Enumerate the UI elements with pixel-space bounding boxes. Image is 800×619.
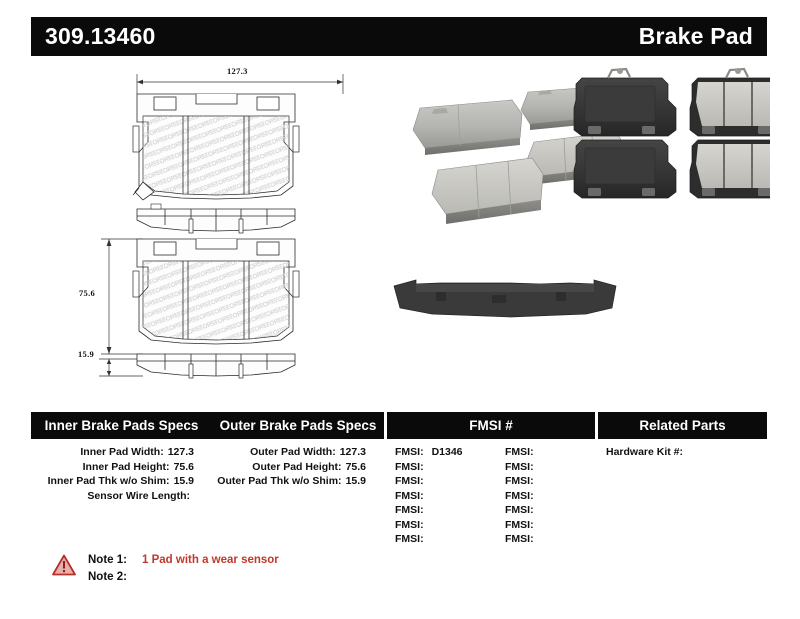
dimension-label-thickness: 15.9 — [78, 349, 94, 359]
photo-pad-edge — [394, 280, 616, 317]
spec-label: Sensor Wire Length: — [87, 489, 190, 504]
spec-label: Inner Pad Width: — [80, 445, 163, 460]
technical-drawing-area: STOP TECH — [31, 64, 371, 384]
fmsi-label: FMSI: — [505, 518, 534, 533]
fmsi-row: FMSI: — [505, 474, 595, 489]
note-label: Note 2: — [88, 569, 136, 586]
column-header-inner-specs: Inner Brake Pads Specs — [31, 412, 212, 439]
note-label: Note 1: — [88, 552, 136, 569]
fmsi-row: FMSI: — [395, 474, 491, 489]
fmsi-row: FMSI: — [395, 489, 491, 504]
spec-label: Outer Pad Thk w/o Shim: — [217, 474, 341, 489]
spec-table-body: Inner Pad Width: 127.3 Inner Pad Height:… — [31, 445, 767, 547]
fmsi-row: FMSI: D1346 — [395, 445, 491, 460]
dimension-width — [137, 74, 343, 94]
fmsi-label: FMSI: — [505, 503, 534, 518]
fmsi-label: FMSI: — [395, 489, 424, 504]
fmsi-row: FMSI: — [505, 445, 595, 460]
fmsi-row: FMSI: — [505, 518, 595, 533]
column-header-outer-specs: Outer Brake Pads Specs — [212, 412, 384, 439]
fmsi-row: FMSI: — [395, 532, 491, 547]
fmsi-row: FMSI: — [505, 489, 595, 504]
dimension-label-width: 127.3 — [227, 66, 248, 76]
fmsi-label: FMSI: — [505, 489, 534, 504]
fmsi-column: FMSI: D1346 FMSI: FMSI: FMSI: — [387, 445, 595, 547]
related-part-row: Hardware Kit #: — [598, 445, 767, 460]
fmsi-label: FMSI: — [395, 532, 424, 547]
note-row: Note 2: — [88, 569, 279, 586]
spec-value: 127.3 — [340, 445, 366, 460]
fmsi-value: D1346 — [432, 445, 463, 460]
fmsi-row: FMSI: — [395, 460, 491, 475]
pad-front-view-upper — [133, 94, 299, 199]
spec-label: Inner Pad Thk w/o Shim: — [48, 474, 170, 489]
dimension-thickness — [99, 359, 143, 376]
outer-specs-column: Outer Pad Width: 127.3 Outer Pad Height:… — [212, 445, 384, 547]
spec-value: 75.6 — [346, 460, 366, 475]
spec-row: Inner Pad Thk w/o Shim: 15.9 — [31, 474, 212, 489]
column-header-fmsi: FMSI # — [387, 412, 595, 439]
pad-edge-view-upper — [137, 204, 295, 233]
product-photo-area — [380, 64, 770, 384]
spec-label: Outer Pad Height: — [252, 460, 341, 475]
fmsi-label: FMSI: — [505, 532, 534, 547]
product-photos — [380, 64, 770, 384]
fmsi-subcolumn-1: FMSI: D1346 FMSI: FMSI: FMSI: — [387, 445, 491, 547]
spec-value: 75.6 — [174, 460, 194, 475]
brake-pad-drawings: STOP TECH — [31, 64, 371, 384]
related-parts-column: Hardware Kit #: — [598, 445, 767, 547]
fmsi-label: FMSI: — [505, 474, 534, 489]
fmsi-label: FMSI: — [505, 460, 534, 475]
spec-row: Sensor Wire Length: — [31, 489, 212, 504]
fmsi-row: FMSI: — [395, 503, 491, 518]
fmsi-label: FMSI: — [395, 518, 424, 533]
note-row: Note 1: 1 Pad with a wear sensor — [88, 552, 279, 569]
fmsi-row: FMSI: — [505, 532, 595, 547]
spec-table-header-row: Inner Brake Pads Specs Outer Brake Pads … — [31, 412, 767, 439]
fmsi-subcolumn-2: FMSI: FMSI: FMSI: FMSI: — [491, 445, 595, 547]
spec-label: Outer Pad Width: — [250, 445, 336, 460]
dimension-label-height: 75.6 — [79, 288, 95, 298]
spec-row: Outer Pad Height: 75.6 — [212, 460, 384, 475]
part-number: 309.13460 — [45, 23, 156, 50]
spec-label: Inner Pad Height: — [83, 460, 170, 475]
fmsi-label: FMSI: — [395, 460, 424, 475]
fmsi-label: FMSI: — [395, 474, 424, 489]
column-header-related-parts: Related Parts — [598, 412, 767, 439]
spec-value: 15.9 — [346, 474, 366, 489]
spec-value: 15.9 — [174, 474, 194, 489]
pad-front-view-lower — [133, 239, 299, 344]
note-value: 1 Pad with a wear sensor — [142, 552, 279, 569]
fmsi-row: FMSI: — [505, 503, 595, 518]
spec-row: Outer Pad Width: 127.3 — [212, 445, 384, 460]
fmsi-label: FMSI: — [505, 445, 534, 460]
brake-pad-spec-sheet: 309.13460 Brake Pad STOP TECH — [0, 0, 800, 619]
fmsi-label: FMSI: — [395, 503, 424, 518]
inner-specs-column: Inner Pad Width: 127.3 Inner Pad Height:… — [31, 445, 212, 547]
product-type: Brake Pad — [639, 23, 753, 50]
header-bar: 309.13460 Brake Pad — [31, 17, 767, 56]
spec-row: Inner Pad Height: 75.6 — [31, 460, 212, 475]
photo-pads-grid — [574, 68, 770, 198]
spec-value: 127.3 — [168, 445, 194, 460]
fmsi-row: FMSI: — [395, 518, 491, 533]
fmsi-row: FMSI: — [505, 460, 595, 475]
spec-table: Inner Brake Pads Specs Outer Brake Pads … — [31, 412, 767, 547]
spec-row: Outer Pad Thk w/o Shim: 15.9 — [212, 474, 384, 489]
note-lines: Note 1: 1 Pad with a wear sensor Note 2: — [88, 552, 279, 586]
fmsi-label: FMSI: — [395, 445, 424, 460]
warning-triangle-icon — [52, 554, 76, 576]
notes-section: Note 1: 1 Pad with a wear sensor Note 2: — [52, 552, 279, 586]
pad-edge-view-lower — [137, 354, 295, 378]
spec-row: Inner Pad Width: 127.3 — [31, 445, 212, 460]
